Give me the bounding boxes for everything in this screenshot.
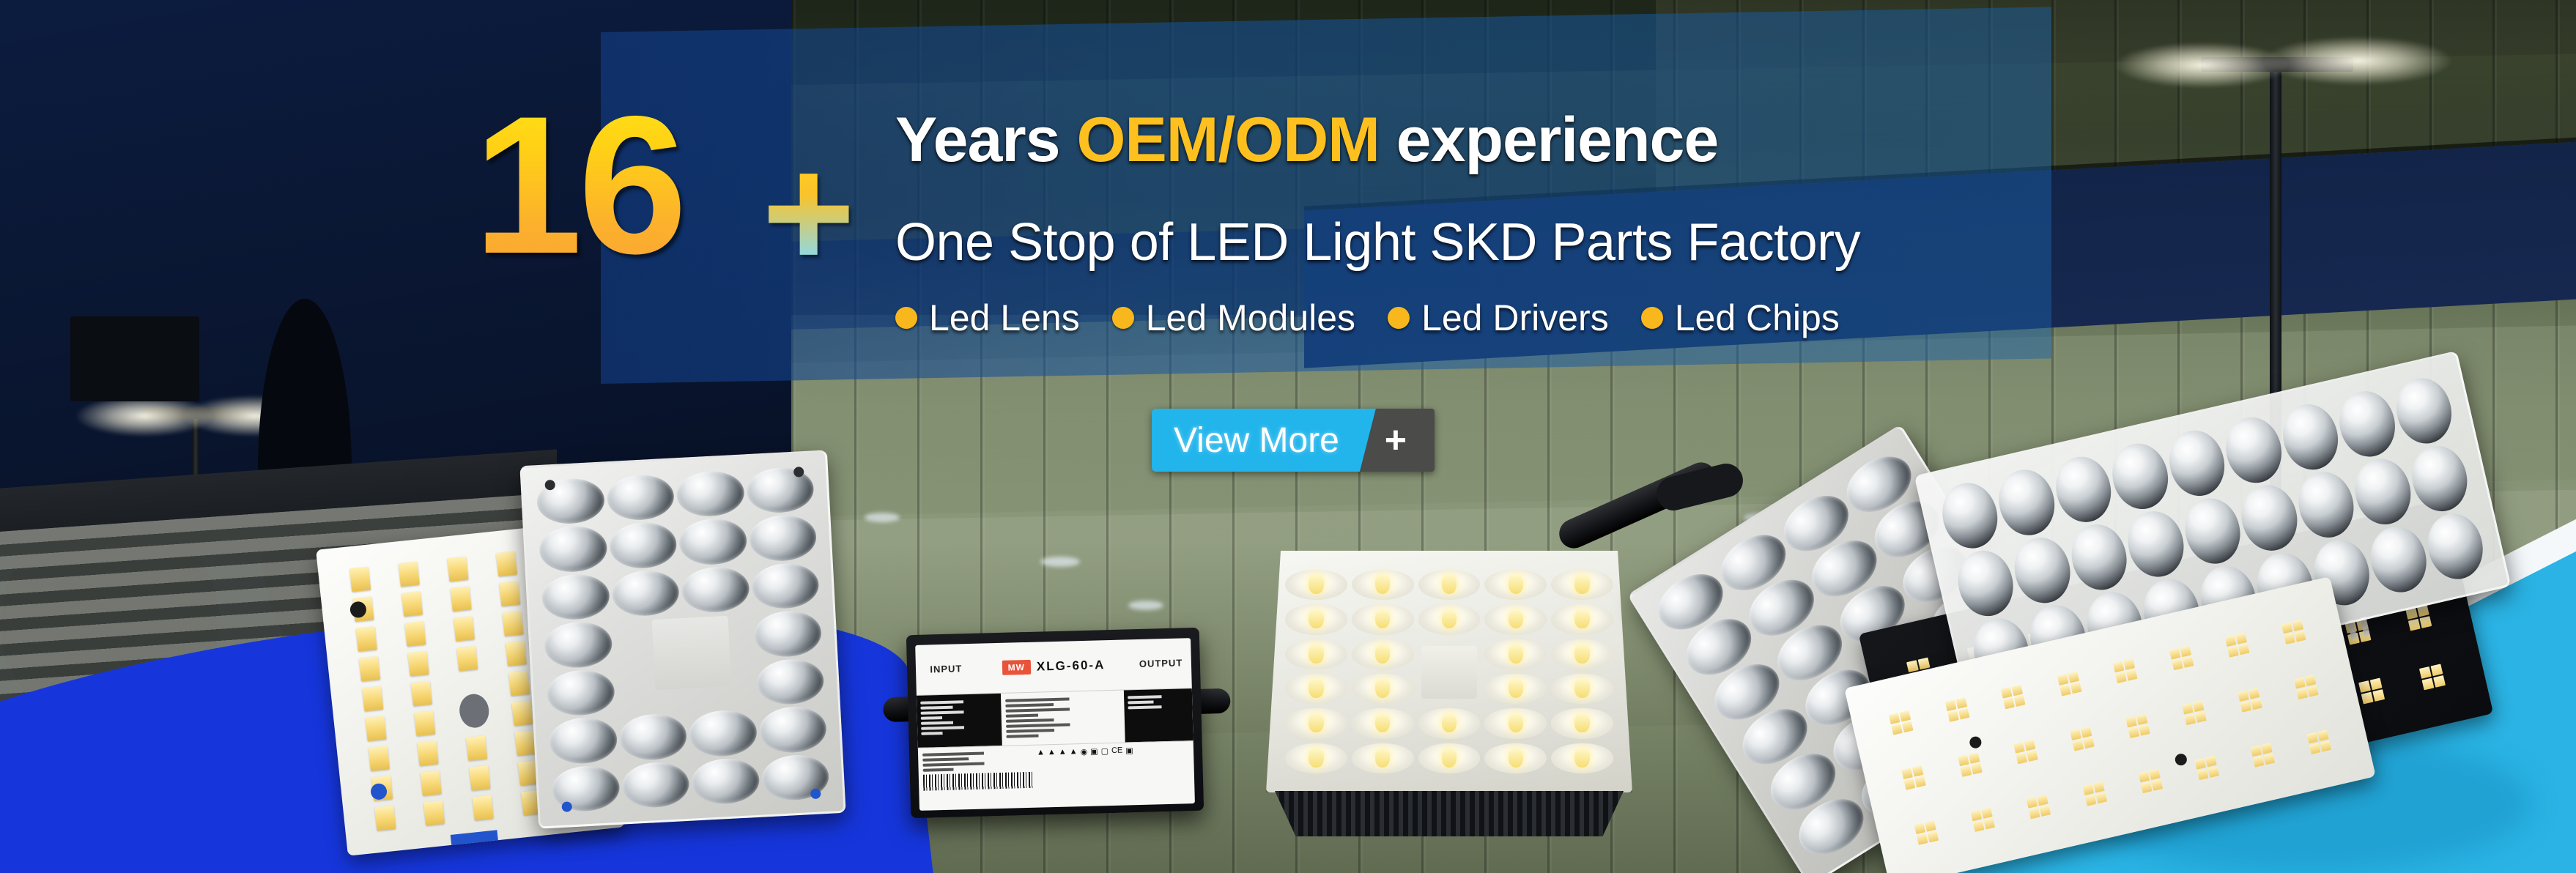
view-more-label[interactable]: View More <box>1152 409 1376 472</box>
bullet-dot-icon <box>1112 307 1134 329</box>
bullet-label: Led Modules <box>1146 297 1355 339</box>
feature-bullet-led-modules: Led Modules <box>1112 297 1355 339</box>
headline-line-primary: Years OEM/ODM experience <box>895 104 1718 177</box>
bullet-dot-icon <box>895 307 917 329</box>
headline-group: 16 + Years OEM/ODM experience One Stop o… <box>0 0 2576 873</box>
bullet-dot-icon <box>1388 307 1410 329</box>
headline-prefix: Years <box>895 105 1076 175</box>
feature-bullet-led-drivers: Led Drivers <box>1388 297 1609 339</box>
feature-bullet-led-lens: Led Lens <box>895 297 1080 339</box>
headline-suffix: experience <box>1380 105 1718 175</box>
led-banner-hero: INPUT MW XLG-60-A OUTPUT <box>0 0 2576 873</box>
headline-line-secondary: One Stop of LED Light SKD Parts Factory <box>895 212 1860 272</box>
plus-symbol: + <box>762 133 855 293</box>
bullet-label: Led Chips <box>1675 297 1840 339</box>
years-number: 16 <box>473 86 683 283</box>
headline-accent: OEM/ODM <box>1076 105 1379 175</box>
bullet-label: Led Drivers <box>1421 297 1609 339</box>
bullet-label: Led Lens <box>929 297 1080 339</box>
bullet-dot-icon <box>1641 307 1663 329</box>
feature-bullet-led-chips: Led Chips <box>1641 297 1840 339</box>
feature-bullet-list: Led Lens Led Modules Led Drivers Led Chi… <box>895 297 1840 339</box>
view-more-button[interactable]: View More + <box>1152 409 1435 472</box>
